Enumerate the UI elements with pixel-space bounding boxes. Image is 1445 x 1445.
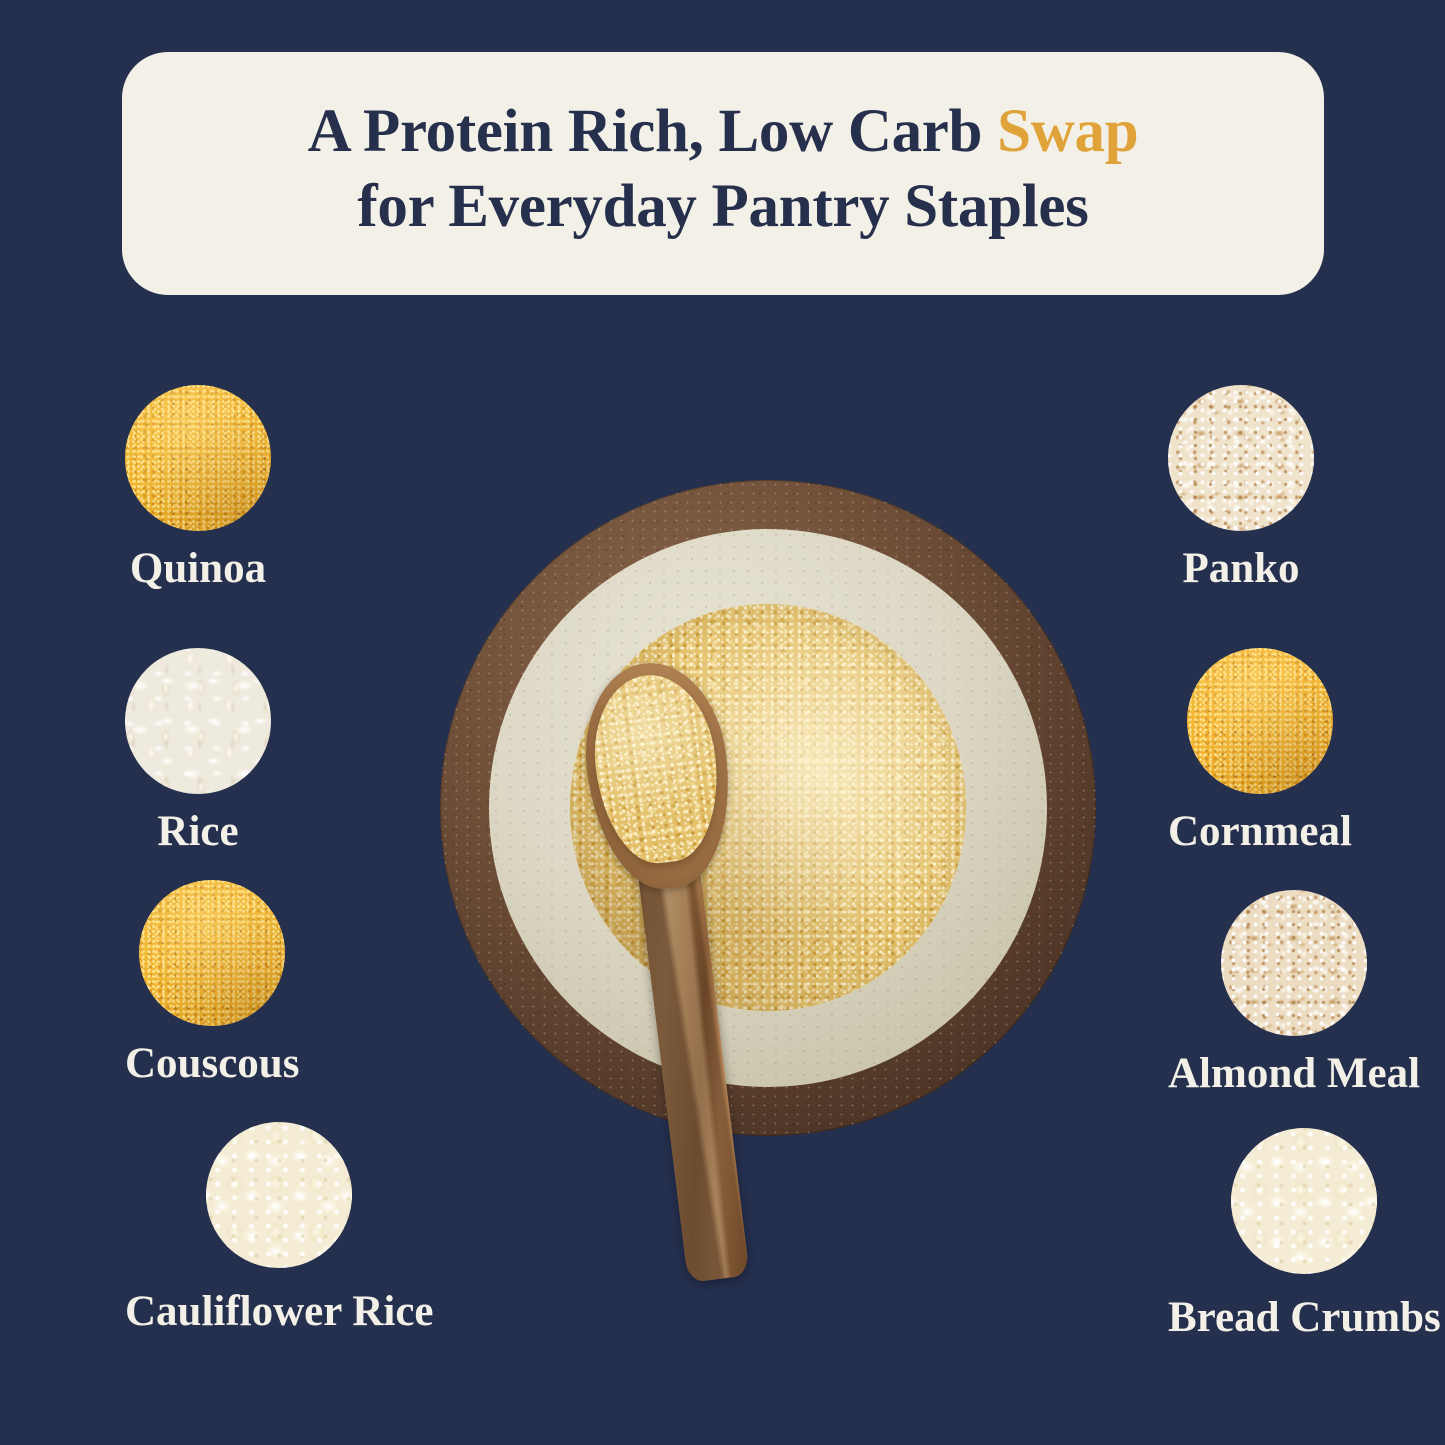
cornmeal-grain-swatch (1187, 648, 1333, 794)
item-label-bread-crumbs: Bread Crumbs (1168, 1296, 1441, 1339)
item-almond-meal: Almond Meal (1168, 890, 1420, 1095)
bowl-rim (440, 480, 1096, 1136)
bread-crumbs-swatch (1231, 1128, 1377, 1274)
item-cauliflower-rice: Cauliflower Rice (125, 1122, 434, 1333)
title-text-primary: A Protein Rich, Low Carb (308, 98, 997, 165)
item-label-panko: Panko (1182, 547, 1299, 590)
title-text-accent: Swap (997, 98, 1138, 165)
item-label-couscous: Couscous (125, 1042, 299, 1085)
couscous-grain-swatch (139, 880, 285, 1026)
rice-grain-swatch (125, 648, 271, 794)
panko-crumb-swatch (1168, 385, 1314, 531)
cauliflower-rice-swatch (206, 1122, 352, 1268)
bowl-of-crumbs-photo (398, 470, 1098, 1280)
title-line-2: for Everyday Pantry Staples (357, 170, 1088, 244)
item-quinoa: Quinoa (125, 385, 271, 590)
item-label-cauliflower-rice: Cauliflower Rice (125, 1290, 434, 1333)
item-label-almond-meal: Almond Meal (1168, 1052, 1420, 1095)
item-rice: Rice (125, 648, 271, 853)
bowl-inner-surface (489, 529, 1047, 1087)
almond-meal-swatch (1221, 890, 1367, 1036)
item-panko: Panko (1168, 385, 1314, 590)
infographic-canvas: A Protein Rich, Low Carb Swap for Everyd… (0, 0, 1445, 1445)
spoon-crumb-heap (585, 668, 727, 869)
quinoa-grain-swatch (125, 385, 271, 531)
item-couscous: Couscous (125, 880, 299, 1085)
item-label-rice: Rice (157, 810, 238, 853)
spoon-scoop (575, 655, 741, 896)
title-line-1: A Protein Rich, Low Carb Swap (308, 95, 1139, 169)
item-bread-crumbs: Bread Crumbs (1168, 1128, 1441, 1339)
item-label-quinoa: Quinoa (130, 547, 266, 590)
title-card: A Protein Rich, Low Carb Swap for Everyd… (122, 52, 1324, 295)
item-label-cornmeal: Cornmeal (1168, 810, 1352, 853)
item-cornmeal: Cornmeal (1168, 648, 1352, 853)
